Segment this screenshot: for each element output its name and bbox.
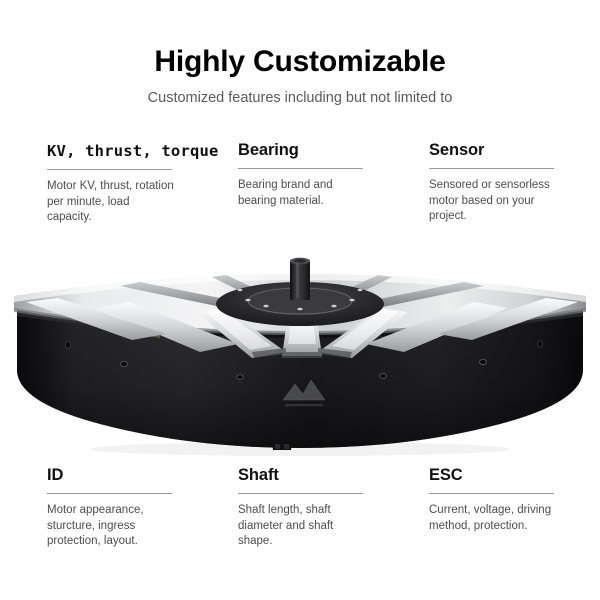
feature-heading: Shaft (238, 465, 429, 490)
feature-divider (47, 169, 172, 170)
feature-divider (429, 168, 554, 169)
feature-block-sensor: Sensor Sensored or sensorless motor base… (429, 140, 599, 225)
feature-block-bearing: Bearing Bearing brand and bearing materi… (238, 140, 429, 209)
feature-body: Bearing brand and bearing material. (238, 178, 368, 209)
drone-motor-photo (0, 252, 600, 457)
motor-illustration (0, 252, 600, 457)
screw-icon (380, 374, 386, 379)
screw-icon (480, 359, 487, 364)
screw-icon (537, 341, 542, 348)
feature-block-id: ID Motor appearance, sturcture, ingress … (47, 465, 238, 550)
feature-divider (429, 493, 554, 494)
screw-icon (65, 342, 70, 349)
page-header: Highly Customizable Customized features … (0, 44, 600, 108)
drop-shadow (90, 442, 510, 456)
feature-body: Motor KV, thrust, rotation per minute, l… (47, 179, 177, 226)
screw-icon (121, 361, 128, 366)
feature-body: Current, voltage, driving method, protec… (429, 503, 559, 534)
feature-body: Sensored or sensorless motor based on yo… (429, 178, 559, 225)
feature-block-kv-thrust-torque: KV, thrust, torque Motor KV, thrust, rot… (47, 140, 238, 226)
motor-shaft (290, 258, 310, 300)
feature-row-top: KV, thrust, torque Motor KV, thrust, rot… (47, 140, 553, 226)
feature-block-shaft: Shaft Shaft length, shaft diameter and s… (238, 465, 429, 550)
product-feature-page: Highly Customizable Customized features … (0, 0, 600, 600)
feature-divider (238, 168, 363, 169)
feature-heading: ID (47, 465, 238, 490)
feature-row-bottom: ID Motor appearance, sturcture, ingress … (47, 465, 553, 550)
feature-divider (47, 493, 172, 494)
page-subtitle: Customized features including but not li… (0, 88, 600, 108)
screw-icon (237, 375, 243, 380)
feature-heading: Bearing (238, 140, 429, 165)
feature-body: Motor appearance, sturcture, ingress pro… (47, 503, 177, 550)
feature-block-esc: ESC Current, voltage, driving method, pr… (429, 465, 599, 534)
feature-body: Shaft length, shaft diameter and shaft s… (238, 503, 368, 550)
page-title: Highly Customizable (0, 44, 600, 80)
feature-heading: Sensor (429, 140, 599, 165)
feature-heading: KV, thrust, torque (47, 140, 238, 166)
feature-divider (238, 493, 363, 494)
feature-heading: ESC (429, 465, 599, 490)
